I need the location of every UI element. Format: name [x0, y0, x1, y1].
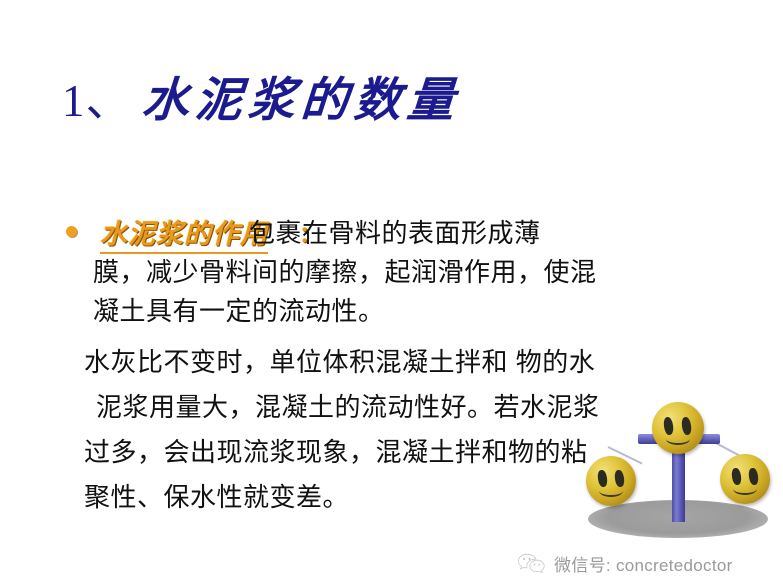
paragraph-line: 膜，减少骨料间的摩擦，起润滑作用，使混	[93, 253, 597, 292]
lead-term-label: 水泥浆的作用	[100, 212, 268, 254]
title-text: 水泥浆的数量	[139, 62, 462, 140]
paragraph-line: 水灰比不变时，单位体积混凝土拌和 物的水	[84, 340, 724, 385]
balance-clipart	[580, 404, 780, 554]
smiley-ball-icon	[586, 456, 636, 506]
wechat-icon	[516, 551, 546, 575]
footer: 微信号: concretedoctor	[516, 548, 733, 578]
paragraph-line: 泥浆用量大，混凝土的流动性好。若水泥浆	[84, 385, 604, 430]
title-number: 1、	[62, 76, 132, 126]
paragraph-line: 凝土具有一定的流动性。	[93, 292, 385, 331]
paragraph-line: 包裹在骨料的表面形成薄	[249, 214, 719, 253]
paragraph-definition: 包裹在骨料的表面形成薄 膜，减少骨料间的摩擦，起润滑作用，使混 凝土具有一定的流…	[249, 214, 719, 253]
page-title: 1、水泥浆的数量	[62, 62, 702, 142]
smiley-ball-icon	[652, 402, 704, 454]
bullet-dot-icon	[66, 226, 77, 237]
paragraph-line: 过多，会出现流浆现象，混凝土拌和物的粘	[84, 430, 592, 475]
mouth	[666, 432, 691, 444]
slide-canvas: 1、水泥浆的数量 水泥浆的作用 ： 包裹在骨料的表面形成薄 膜，减少骨料间的摩擦…	[0, 0, 783, 588]
footer-text: 微信号: concretedoctor	[554, 551, 733, 576]
mouth	[599, 485, 623, 497]
mouth	[733, 483, 757, 495]
smiley-ball-icon	[720, 454, 770, 504]
